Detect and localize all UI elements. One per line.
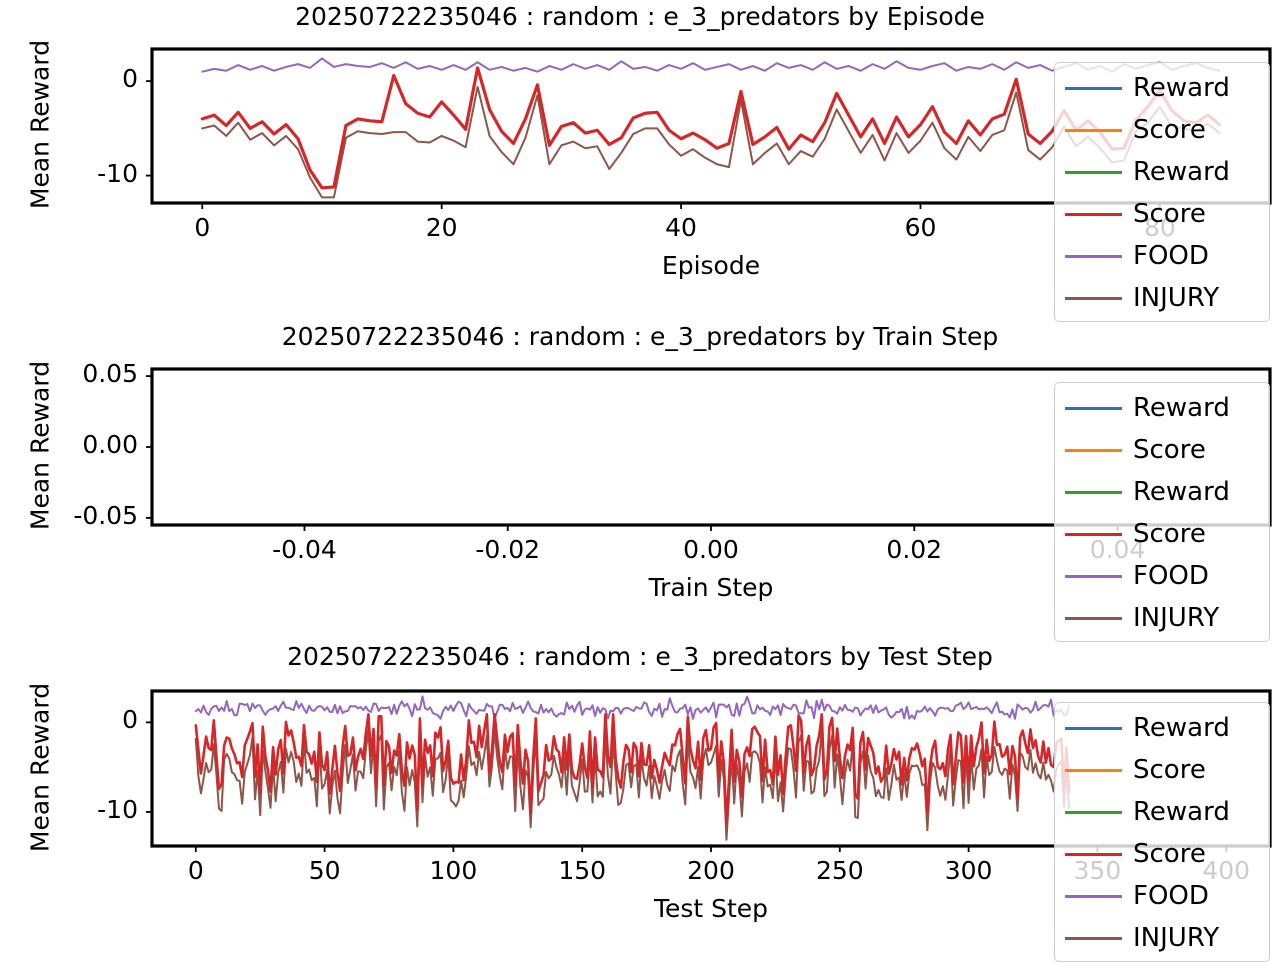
legend-item-reward-2[interactable]: Reward <box>1055 471 1269 513</box>
legend-swatch-score-1 <box>1065 769 1122 772</box>
legend-label-score-3: Score <box>1133 833 1206 875</box>
legend-test-step[interactable]: RewardScoreRewardScoreFOODINJURY <box>1054 702 1270 962</box>
legend-item-score-3[interactable]: Score <box>1055 833 1269 875</box>
legend-item-score-1[interactable]: Score <box>1055 429 1269 471</box>
legend-swatch-reward-2 <box>1065 491 1122 494</box>
legend-item-reward-0[interactable]: Reward <box>1055 707 1269 749</box>
legend-item-score-3[interactable]: Score <box>1055 193 1269 235</box>
legend-swatch-reward-0 <box>1065 727 1122 730</box>
x-tick-label: 200 <box>641 856 781 885</box>
legend-swatch-reward-2 <box>1065 811 1122 814</box>
y-axis-label: Mean Reward <box>26 25 55 225</box>
y-tick-label: 0.05 <box>0 359 138 388</box>
legend-item-reward-0[interactable]: Reward <box>1055 387 1269 429</box>
legend-label-reward-0: Reward <box>1133 387 1230 429</box>
x-tick-label: -0.04 <box>234 535 374 564</box>
x-tick-label: 300 <box>899 856 1039 885</box>
legend-swatch-score-3 <box>1065 533 1122 536</box>
y-tick-label: -10 <box>0 795 138 824</box>
legend-swatch-score-3 <box>1065 853 1122 856</box>
legend-label-score-1: Score <box>1133 109 1206 151</box>
legend-label-reward-2: Reward <box>1133 791 1230 833</box>
legend-train-step[interactable]: RewardScoreRewardScoreFOODINJURY <box>1054 382 1270 642</box>
x-tick-label: 0.00 <box>641 535 781 564</box>
legend-swatch-score-1 <box>1065 449 1122 452</box>
x-tick-label: 20 <box>372 213 512 242</box>
legend-item-food-4[interactable]: FOOD <box>1055 235 1269 277</box>
legend-swatch-food-4 <box>1065 255 1122 258</box>
y-tick-label: 0 <box>0 705 138 734</box>
legend-item-injury-5[interactable]: INJURY <box>1055 917 1269 959</box>
legend-label-injury-5: INJURY <box>1133 277 1219 319</box>
legend-swatch-score-3 <box>1065 213 1122 216</box>
legend-label-food-4: FOOD <box>1133 235 1209 277</box>
x-tick-label: 50 <box>255 856 395 885</box>
legend-item-score-3[interactable]: Score <box>1055 513 1269 555</box>
legend-swatch-score-1 <box>1065 129 1122 132</box>
legend-label-score-3: Score <box>1133 193 1206 235</box>
x-tick-label: -0.02 <box>438 535 578 564</box>
legend-swatch-reward-0 <box>1065 87 1122 90</box>
legend-label-reward-0: Reward <box>1133 67 1230 109</box>
x-tick-label: 40 <box>611 213 751 242</box>
legend-item-injury-5[interactable]: INJURY <box>1055 277 1269 319</box>
legend-item-food-4[interactable]: FOOD <box>1055 875 1269 917</box>
legend-item-reward-0[interactable]: Reward <box>1055 67 1269 109</box>
x-tick-label: 150 <box>512 856 652 885</box>
y-tick-label: 0 <box>0 64 138 93</box>
legend-item-injury-5[interactable]: INJURY <box>1055 597 1269 639</box>
y-axis-label: Mean Reward <box>26 346 55 546</box>
y-axis-label: Mean Reward <box>26 667 55 867</box>
legend-episode[interactable]: RewardScoreRewardScoreFOODINJURY <box>1054 62 1270 322</box>
y-tick-label: -10 <box>0 159 138 188</box>
legend-swatch-injury-5 <box>1065 617 1122 620</box>
legend-label-reward-0: Reward <box>1133 707 1230 749</box>
x-tick-label: 0.02 <box>844 535 984 564</box>
legend-label-injury-5: INJURY <box>1133 597 1219 639</box>
legend-label-reward-2: Reward <box>1133 471 1230 513</box>
legend-item-reward-2[interactable]: Reward <box>1055 151 1269 193</box>
legend-label-food-4: FOOD <box>1133 875 1209 917</box>
x-tick-label: 100 <box>383 856 523 885</box>
y-tick-label: -0.05 <box>0 501 138 530</box>
legend-label-score-1: Score <box>1133 429 1206 471</box>
matplotlib-figure: 20250722235046 : random : e_3_predators … <box>0 0 1280 960</box>
legend-swatch-food-4 <box>1065 575 1122 578</box>
legend-item-reward-2[interactable]: Reward <box>1055 791 1269 833</box>
legend-item-food-4[interactable]: FOOD <box>1055 555 1269 597</box>
x-tick-label: 0 <box>132 213 272 242</box>
legend-label-food-4: FOOD <box>1133 555 1209 597</box>
legend-swatch-injury-5 <box>1065 937 1122 940</box>
legend-item-score-1[interactable]: Score <box>1055 109 1269 151</box>
x-tick-label: 0 <box>126 856 266 885</box>
legend-swatch-injury-5 <box>1065 297 1122 300</box>
legend-swatch-reward-0 <box>1065 407 1122 410</box>
x-tick-label: 250 <box>770 856 910 885</box>
legend-label-injury-5: INJURY <box>1133 917 1219 959</box>
legend-swatch-reward-2 <box>1065 171 1122 174</box>
legend-label-score-3: Score <box>1133 513 1206 555</box>
legend-item-score-1[interactable]: Score <box>1055 749 1269 791</box>
legend-label-reward-2: Reward <box>1133 151 1230 193</box>
x-tick-label: 60 <box>850 213 990 242</box>
legend-swatch-food-4 <box>1065 895 1122 898</box>
y-tick-label: 0.00 <box>0 430 138 459</box>
legend-label-score-1: Score <box>1133 749 1206 791</box>
